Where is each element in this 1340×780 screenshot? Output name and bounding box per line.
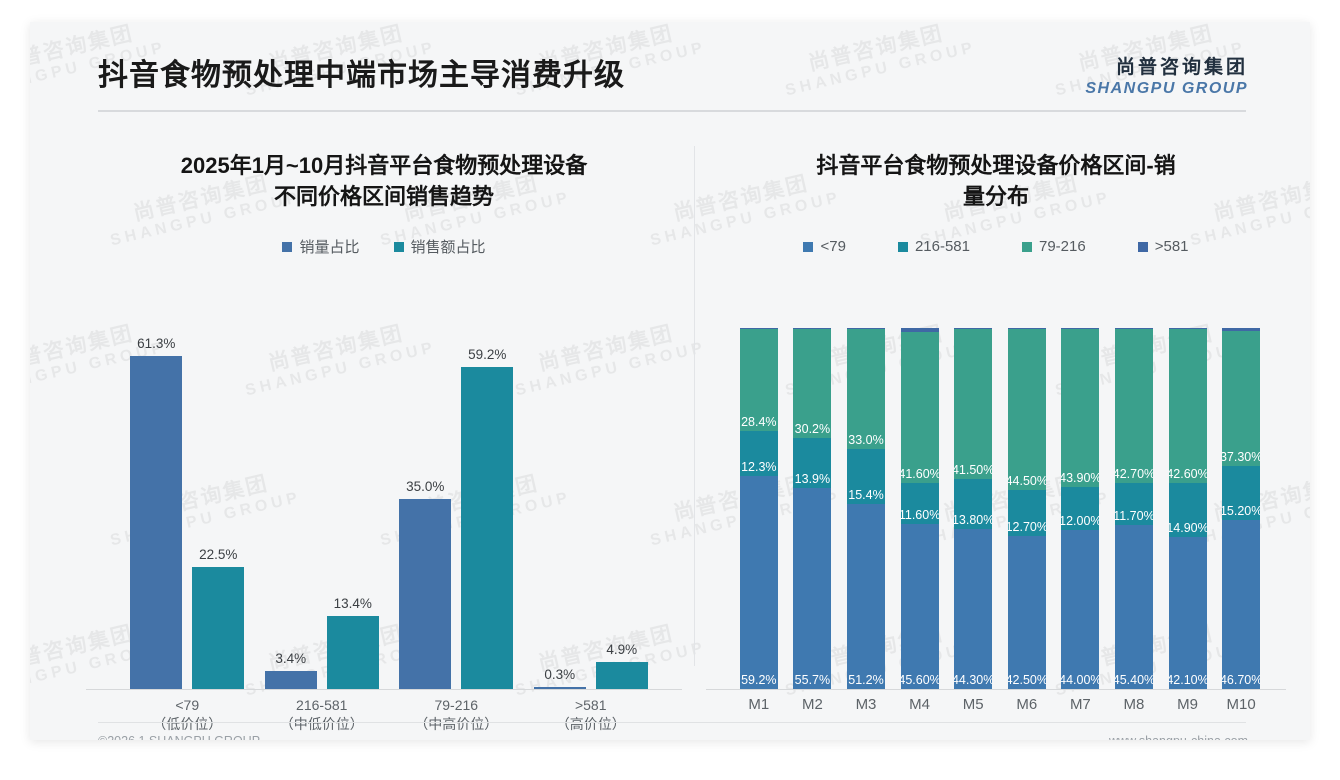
stacked-bar-segment[interactable]: 33.0% (847, 329, 885, 448)
segment-value-label: 15.4% (848, 488, 883, 502)
right-chart-title-line2: 量分布 (706, 181, 1286, 212)
slide-header: 抖音食物预处理中端市场主导消费升级 尚普咨询集团 SHANGPU GROUP (30, 22, 1310, 114)
segment-value-label: 33.0% (848, 433, 883, 447)
segment-value-label: 13.80% (954, 513, 992, 527)
segment-clip: 45.40% (1115, 525, 1153, 689)
segment-clip: 37.30% (1222, 331, 1260, 466)
right-chart-plot: 0.2%28.4%12.3%59.2%0.2%30.2%13.9%55.7%0.… (706, 322, 1286, 690)
legend-left-item[interactable]: 销售额占比 (394, 236, 486, 257)
segment-value-label: 43.90% (1061, 471, 1099, 485)
stacked-bar-segment[interactable]: 13.80% (954, 479, 992, 529)
legend-swatch-icon (803, 242, 813, 252)
right-chart-title-line1: 抖音平台食物预处理设备价格区间-销 (706, 150, 1286, 181)
stacked-bar-segment[interactable]: 44.00% (1061, 530, 1099, 689)
left-x-axis-labels: <79（低价位）216-581（中低价位）79-216（中高价位）>581（高价… (120, 696, 658, 734)
bar-value-label: 13.4% (334, 596, 372, 611)
segment-clip: 41.60% (901, 332, 939, 482)
segment-clip: 42.70% (1115, 329, 1153, 483)
stacked-bar-segment[interactable]: 44.50% (1008, 329, 1046, 490)
x-axis-tick-secondary: （中低价位） (255, 715, 390, 734)
bar-group: 61.3%22.5% (120, 330, 255, 689)
stacked-bar-segment[interactable]: 42.60% (1169, 329, 1207, 483)
bar-fill (265, 671, 317, 689)
stacked-bar-segment[interactable]: 45.60% (901, 524, 939, 689)
stacked-bar-segment[interactable]: 30.2% (793, 329, 831, 438)
legend-label: 销售额占比 (411, 236, 486, 257)
stacked-bar-segment[interactable]: 55.7% (793, 488, 831, 689)
bar-fill (399, 499, 451, 689)
segment-clip: 55.7% (793, 488, 831, 689)
legend-label: 销量占比 (299, 236, 359, 257)
bar[interactable]: 61.3% (130, 330, 182, 689)
stacked-bar[interactable]: 0.20%43.90%12.00%44.00% (1061, 328, 1099, 689)
stacked-bar-segment[interactable]: 11.60% (901, 483, 939, 525)
segment-value-label: 42.10% (1169, 673, 1207, 687)
segment-clip: 44.50% (1008, 329, 1046, 490)
segment-clip: 43.90% (1061, 329, 1099, 487)
left-chart-title-line1: 2025年1月~10月抖音平台食物预处理设备 (86, 150, 682, 181)
x-axis-tick-label: 216-581（中低价位） (255, 696, 390, 734)
segment-value-label: 15.20% (1222, 504, 1260, 518)
segment-clip: 51.2% (847, 504, 885, 689)
segment-value-label: 42.60% (1169, 467, 1207, 481)
stacked-bar-segment[interactable]: 12.70% (1008, 490, 1046, 536)
left-chart-legend: 销量占比销售额占比 (86, 236, 682, 257)
bar-fill (327, 616, 379, 689)
segment-value-label: 51.2% (848, 673, 883, 687)
x-axis-tick-label: M2 (786, 696, 840, 713)
stacked-bar-segment[interactable]: 41.50% (954, 329, 992, 479)
legend-swatch-icon (394, 242, 404, 252)
legend-swatch-icon (1022, 242, 1032, 252)
bar-value-label: 59.2% (468, 347, 506, 362)
stacked-bar-segment[interactable]: 41.60% (901, 332, 939, 482)
bar-group: 0.3%4.9% (524, 330, 659, 689)
stacked-bar[interactable]: 0.20%42.70%11.70%45.40% (1115, 328, 1153, 689)
legend-label: 79-216 (1039, 238, 1086, 255)
stacked-bar-segment[interactable]: 15.20% (1222, 466, 1260, 521)
segment-value-label: 12.00% (1061, 514, 1099, 528)
segment-value-label: 46.70% (1222, 673, 1260, 687)
watermark-unit: 尚普咨询集团SHANGPU GROUP (30, 461, 33, 551)
segment-value-label: 41.60% (901, 467, 939, 481)
bar-value-label: 35.0% (406, 479, 444, 494)
stacked-bar-segment[interactable]: 59.2% (740, 476, 778, 690)
left-chart-panel: 2025年1月~10月抖音平台食物预处理设备 不同价格区间销售趋势 销量占比销售… (86, 140, 682, 700)
segment-value-label: 11.70% (1115, 509, 1153, 523)
stacked-bar-segment[interactable]: 28.4% (740, 329, 778, 431)
stacked-bar[interactable]: 0.4%33.0%15.4%51.2% (847, 328, 885, 689)
stacked-bar-segment[interactable]: 42.10% (1169, 537, 1207, 689)
page-title: 抖音食物预处理中端市场主导消费升级 (98, 50, 625, 94)
x-axis-tick-secondary: （高价位） (524, 715, 659, 734)
x-axis-tick-label: M9 (1161, 696, 1215, 713)
segment-value-label: 44.30% (954, 673, 992, 687)
stacked-bar-column: 0.30%41.50%13.80%44.30% (946, 328, 1000, 689)
legend-label: >581 (1155, 238, 1189, 255)
bar[interactable]: 3.4% (265, 330, 317, 689)
legend-swatch-icon (282, 242, 292, 252)
stacked-bar-segment[interactable]: 45.40% (1115, 525, 1153, 689)
x-axis-tick-label: >581（高价位） (524, 696, 659, 734)
segment-value-label: 12.3% (741, 460, 776, 474)
stacked-bar[interactable]: 0.40%42.60%14.90%42.10% (1169, 328, 1207, 689)
grouped-bar-group: 61.3%22.5%3.4%13.4%35.0%59.2%0.3%4.9% (120, 330, 658, 689)
x-axis-tick-primary: 79-216 (389, 696, 524, 715)
stacked-bar-segment[interactable]: 12.00% (1061, 487, 1099, 530)
bar-group: 35.0%59.2% (389, 330, 524, 689)
segment-clip: 33.0% (847, 329, 885, 448)
legend-label: <79 (820, 238, 845, 255)
legend-left-item[interactable]: 销量占比 (282, 236, 359, 257)
bar-value-label: 3.4% (275, 651, 306, 666)
x-axis-tick-label: M6 (1000, 696, 1054, 713)
left-chart-title-line2: 不同价格区间销售趋势 (86, 181, 682, 212)
bar[interactable]: 0.3% (534, 330, 586, 689)
x-axis-tick-secondary: （中高价位） (389, 715, 524, 734)
segment-clip: 45.60% (901, 524, 939, 689)
left-chart-plot: 61.3%22.5%3.4%13.4%35.0%59.2%0.3%4.9% (86, 330, 682, 690)
left-x-axis-line (86, 689, 682, 690)
segment-value-label: 1.20% (902, 328, 937, 330)
segment-clip: 42.60% (1169, 329, 1207, 483)
bar-fill (596, 662, 648, 689)
segment-value-label: 42.70% (1115, 467, 1153, 481)
bar-group: 3.4%13.4% (255, 330, 390, 689)
segment-clip: 44.30% (954, 529, 992, 689)
legend-right-item[interactable]: 79-216 (1022, 238, 1086, 255)
segment-value-label: 28.4% (741, 415, 776, 429)
segment-clip: 59.2% (740, 476, 778, 690)
header-divider (98, 110, 1246, 112)
segment-value-label: 59.2% (741, 673, 776, 687)
stacked-bar[interactable]: 0.80%37.30%15.20%46.70% (1222, 328, 1260, 689)
segment-clip: 46.70% (1222, 520, 1260, 689)
brand-logo: 尚普咨询集团 SHANGPU GROUP (1085, 52, 1248, 98)
x-axis-tick-label: M1 (732, 696, 786, 713)
segment-value-label: 44.50% (1008, 474, 1046, 488)
segment-clip: 15.20% (1222, 466, 1260, 521)
stacked-bar-segment[interactable]: 14.90% (1169, 483, 1207, 537)
x-axis-tick-label: 79-216（中高价位） (389, 696, 524, 734)
segment-clip: 11.70% (1115, 483, 1153, 525)
legend-right-item[interactable]: >581 (1138, 238, 1189, 255)
stacked-bar[interactable]: 0.30%44.50%12.70%42.50% (1008, 328, 1046, 689)
segment-value-label: 11.60% (901, 508, 939, 522)
stacked-bar-column: 0.4%33.0%15.4%51.2% (839, 328, 893, 689)
bar-value-label: 0.3% (544, 667, 575, 682)
brand-logo-en: SHANGPU GROUP (1085, 80, 1248, 98)
legend-right-item[interactable]: 216-581 (898, 238, 970, 255)
segment-value-label: 45.60% (901, 673, 939, 687)
segment-value-label: 0.80% (1223, 328, 1258, 329)
stacked-bar[interactable]: 1.20%41.60%11.60%45.60% (901, 328, 939, 689)
bar[interactable]: 4.9% (596, 330, 648, 689)
segment-clip: 41.50% (954, 329, 992, 479)
stacked-bar-segment[interactable]: 15.4% (847, 449, 885, 505)
stacked-bar-segment[interactable]: 43.90% (1061, 329, 1099, 487)
stacked-bar-column: 0.20%42.70%11.70%45.40% (1107, 328, 1161, 689)
legend-swatch-icon (1138, 242, 1148, 252)
footer-copyright: ©2026.1 SHANGPU GROUP (98, 734, 260, 740)
stacked-bar-segment[interactable]: 37.30% (1222, 331, 1260, 466)
stacked-bar[interactable]: 0.2%30.2%13.9%55.7% (793, 328, 831, 689)
bar-value-label: 22.5% (199, 547, 237, 562)
segment-clip: 15.4% (847, 449, 885, 505)
x-axis-tick-label: M7 (1054, 696, 1108, 713)
panel-divider (694, 146, 695, 666)
stacked-bar-segment[interactable]: 44.30% (954, 529, 992, 689)
stacked-bar-column: 0.30%44.50%12.70%42.50% (1000, 328, 1054, 689)
stacked-bar-column: 0.2%30.2%13.9%55.7% (786, 328, 840, 689)
stacked-bar[interactable]: 0.30%41.50%13.80%44.30% (954, 328, 992, 689)
bar-value-label: 61.3% (137, 336, 175, 351)
stacked-bar-segment[interactable]: 12.3% (740, 431, 778, 475)
stacked-bar-column: 0.80%37.30%15.20%46.70% (1214, 328, 1268, 689)
x-axis-tick-primary: 216-581 (255, 696, 390, 715)
stacked-bar-column: 1.20%41.60%11.60%45.60% (893, 328, 947, 689)
segment-clip: 44.00% (1061, 530, 1099, 689)
right-chart-legend: <79216-58179-216>581 (706, 238, 1286, 255)
segment-clip: 14.90% (1169, 483, 1207, 537)
stacked-bar-segment[interactable]: 42.70% (1115, 329, 1153, 483)
segment-clip: 42.50% (1008, 536, 1046, 689)
x-axis-tick-primary: >581 (524, 696, 659, 715)
bar-value-label: 4.9% (606, 642, 637, 657)
segment-clip: 13.80% (954, 479, 992, 529)
stacked-bar-column: 0.20%43.90%12.00%44.00% (1054, 328, 1108, 689)
stacked-bar-segment[interactable]: 13.9% (793, 438, 831, 488)
segment-value-label: 14.90% (1169, 521, 1207, 535)
segment-clip: 12.3% (740, 431, 778, 475)
stacked-bar-segment[interactable]: 46.70% (1222, 520, 1260, 689)
x-axis-tick-label: M4 (893, 696, 947, 713)
right-x-axis-labels: M1M2M3M4M5M6M7M8M9M10 (732, 696, 1268, 713)
segment-value-label: 12.70% (1008, 520, 1046, 534)
segment-clip: 30.2% (793, 329, 831, 438)
segment-clip: 13.9% (793, 438, 831, 488)
x-axis-tick-label: <79（低价位） (120, 696, 255, 734)
segment-value-label: 45.40% (1115, 673, 1153, 687)
x-axis-tick-label: M10 (1214, 696, 1268, 713)
bar-fill (192, 567, 244, 689)
legend-swatch-icon (898, 242, 908, 252)
segment-clip: 42.10% (1169, 537, 1207, 689)
stacked-bar-group: 0.2%28.4%12.3%59.2%0.2%30.2%13.9%55.7%0.… (732, 328, 1268, 689)
x-axis-tick-label: M8 (1107, 696, 1161, 713)
bar[interactable]: 13.4% (327, 330, 379, 689)
stacked-bar-segment[interactable]: 11.70% (1115, 483, 1153, 525)
segment-value-label: 44.00% (1061, 673, 1099, 687)
stacked-bar-column: 0.2%28.4%12.3%59.2% (732, 328, 786, 689)
legend-label: 216-581 (915, 238, 970, 255)
bar[interactable]: 59.2% (461, 330, 513, 689)
x-axis-tick-secondary: （低价位） (120, 715, 255, 734)
stacked-bar[interactable]: 0.2%28.4%12.3%59.2% (740, 328, 778, 689)
right-x-axis-line (706, 689, 1286, 690)
footer-divider (98, 722, 1246, 723)
right-chart-panel: 抖音平台食物预处理设备价格区间-销 量分布 <79216-58179-216>5… (706, 140, 1286, 700)
footer-website: www.shangpu-china.com (1109, 734, 1248, 740)
brand-logo-cn: 尚普咨询集团 (1085, 52, 1248, 79)
stacked-bar-segment[interactable]: 51.2% (847, 504, 885, 689)
segment-value-label: 41.50% (954, 463, 992, 477)
legend-right-item[interactable]: <79 (803, 238, 845, 255)
stacked-bar-segment[interactable]: 42.50% (1008, 536, 1046, 689)
segment-value-label: 30.2% (795, 422, 830, 436)
segment-value-label: 55.7% (795, 673, 830, 687)
x-axis-tick-primary: <79 (120, 696, 255, 715)
segment-value-label: 13.9% (795, 472, 830, 486)
segment-clip: 12.00% (1061, 487, 1099, 530)
bar-fill (461, 367, 513, 689)
stacked-bar-column: 0.40%42.60%14.90%42.10% (1161, 328, 1215, 689)
segment-value-label: 42.50% (1008, 673, 1046, 687)
right-chart-title: 抖音平台食物预处理设备价格区间-销 量分布 (706, 140, 1286, 212)
left-chart-title: 2025年1月~10月抖音平台食物预处理设备 不同价格区间销售趋势 (86, 140, 682, 212)
watermark-unit: 尚普咨询集团SHANGPU GROUP (30, 161, 33, 251)
segment-value-label: 37.30% (1222, 450, 1260, 464)
x-axis-tick-label: M3 (839, 696, 893, 713)
segment-clip: 28.4% (740, 329, 778, 431)
bar[interactable]: 35.0% (399, 330, 451, 689)
bar[interactable]: 22.5% (192, 330, 244, 689)
segment-clip: 11.60% (901, 483, 939, 525)
slide-canvas: 尚普咨询集团SHANGPU GROUP尚普咨询集团SHANGPU GROUP尚普… (30, 22, 1310, 740)
segment-clip: 12.70% (1008, 490, 1046, 536)
bar-fill (130, 356, 182, 689)
x-axis-tick-label: M5 (946, 696, 1000, 713)
